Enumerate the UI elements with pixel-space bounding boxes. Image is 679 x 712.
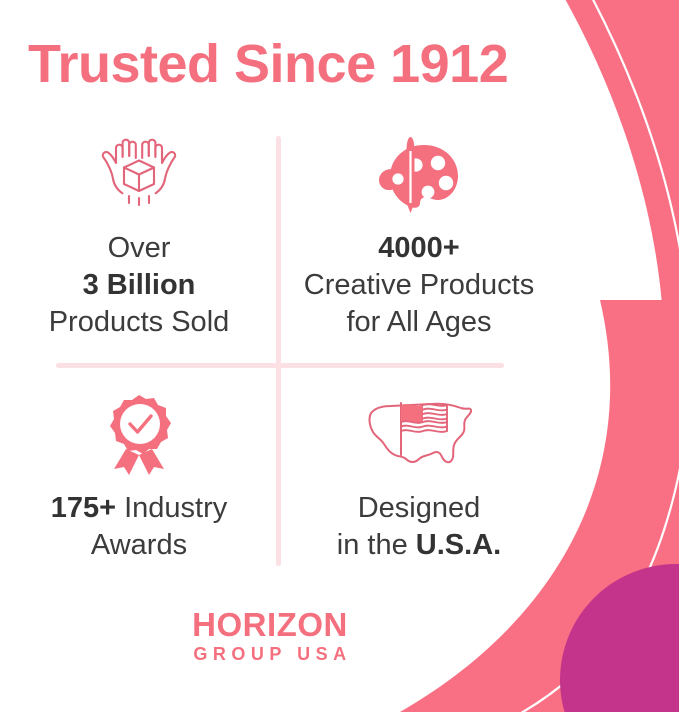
feature-text-products-sold: Over 3 Billion Products Sold [0,230,278,341]
page-title: Trusted Since 1912 [28,36,508,93]
feature-line: Over [0,230,278,267]
logo-tagline: GROUP USA [0,643,540,666]
feature-designed-in-usa: Designed in the U.S.A. [280,392,558,564]
feature-line-bold: 4000+ [280,230,558,267]
divider-horizontal [56,363,504,368]
logo-wordmark: HORIZON [0,608,540,641]
feature-industry-awards: 175+ Industry Awards [0,392,278,564]
magenta-circle [560,564,679,712]
hands-holding-box-icon [0,132,278,218]
white-hairline-curve [444,0,679,712]
award-ribbon-icon [0,392,278,478]
feature-text-creative-products: 4000+ Creative Products for All Ages [280,230,558,341]
feature-line: Creative Products [280,267,558,304]
paint-palette-icon [280,132,558,218]
brand-logo: HORIZON GROUP USA [0,608,540,666]
feature-line: Awards [0,527,278,564]
feature-line: for All Ages [280,304,558,341]
usa-map-flag-icon [280,392,558,478]
feature-line: Designed [280,490,558,527]
pink-swoosh-shape [430,0,679,712]
feature-products-sold: Over 3 Billion Products Sold [0,132,278,341]
feature-line-bold: 3 Billion [0,267,278,304]
feature-text-designed-in-usa: Designed in the U.S.A. [280,490,558,564]
feature-creative-products: 4000+ Creative Products for All Ages [280,132,558,341]
infographic-card: Trusted Since 1912 [0,0,679,712]
feature-line-mixed: 175+ Industry [0,490,278,527]
feature-line: Products Sold [0,304,278,341]
feature-line-mixed: in the U.S.A. [280,527,558,564]
feature-text-industry-awards: 175+ Industry Awards [0,490,278,564]
